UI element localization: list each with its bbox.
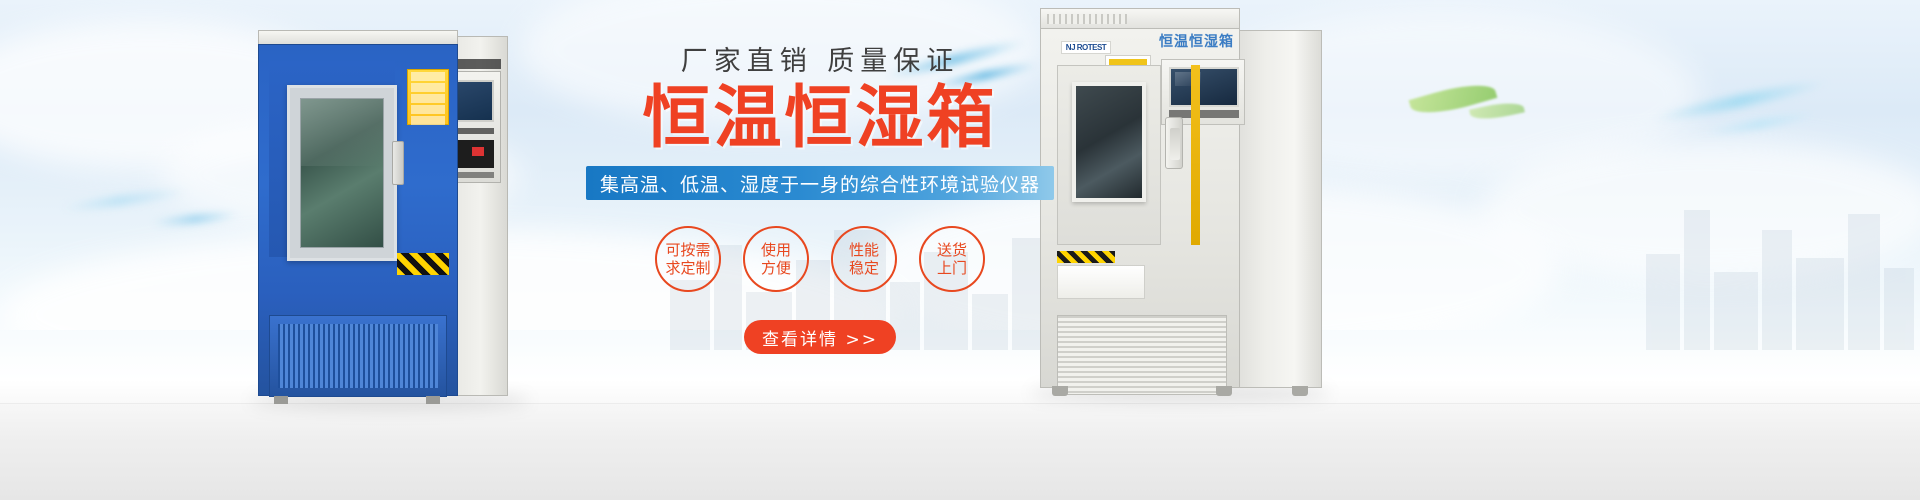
- feature-badge-easy-to-use[interactable]: 使用 方便: [743, 226, 809, 292]
- feature-badge-list: 可按需 求定制 使用 方便 性能 稳定 送货 上门: [560, 226, 1080, 292]
- feature-badge-line2: 上门: [937, 259, 967, 278]
- swoosh-decoration: [150, 210, 240, 227]
- feature-badge-customizable[interactable]: 可按需 求定制: [655, 226, 721, 292]
- chamber-left-vent-grill: [278, 324, 438, 388]
- chamber-right-top-cap: [1040, 8, 1240, 30]
- chamber-left-door-handle: [392, 141, 404, 185]
- chamber-left-door: [287, 85, 397, 261]
- chamber-left-warning-sticker: [407, 69, 449, 125]
- chamber-left-viewing-window: [300, 98, 384, 248]
- banner-subtitle-bar: 集高温、低温、湿度于一身的综合性环境试验仪器: [586, 166, 1054, 200]
- chamber-left-main-body: NJ ROTEST: [258, 44, 458, 396]
- chamber-right-control-panel: [1161, 59, 1245, 125]
- feature-badge-stable-performance[interactable]: 性能 稳定: [831, 226, 897, 292]
- chamber-left-hazard-stripe: [397, 253, 449, 275]
- cta-container: 查看详情 >>: [560, 320, 1080, 354]
- chamber-right-model-label: 恒温恒湿箱: [1159, 31, 1247, 53]
- feature-badge-line2: 稳定: [849, 259, 879, 278]
- promo-banner: NJ ROTEST NJ ROTEST 恒温恒湿箱: [0, 0, 1920, 500]
- feature-badge-line2: 方便: [761, 259, 791, 278]
- chamber-left-door-panel: [269, 61, 395, 257]
- chamber-left-leg: [426, 396, 440, 404]
- feature-badge-line1: 性能: [849, 241, 879, 260]
- banner-tagline: 厂家直销 质量保证: [560, 48, 1080, 75]
- swoosh-decoration: [1700, 110, 1820, 139]
- chamber-right-display-screen: [1169, 67, 1239, 107]
- feature-badge-line1: 使用: [761, 241, 791, 260]
- banner-text-column: 厂家直销 质量保证 恒温恒湿箱 集高温、低温、湿度于一身的综合性环境试验仪器 可…: [560, 48, 1080, 448]
- product-image-left-chamber: NJ ROTEST: [258, 30, 508, 402]
- chamber-left-leg: [274, 396, 288, 404]
- feature-badge-home-delivery[interactable]: 送货 上门: [919, 226, 985, 292]
- feature-badge-line1: 送货: [937, 241, 967, 260]
- chamber-right-yellow-strip: [1191, 65, 1200, 245]
- banner-headline: 恒温恒湿箱: [560, 83, 1080, 154]
- chamber-right-leg: [1216, 386, 1232, 396]
- feature-badge-line1: 可按需: [665, 241, 710, 260]
- view-details-button[interactable]: 查看详情 >>: [744, 320, 896, 354]
- chamber-right-door-handle: [1165, 117, 1183, 169]
- chamber-right-leg: [1292, 386, 1308, 396]
- chamber-right-viewing-window: [1072, 82, 1146, 202]
- city-skyline-decoration: [1640, 180, 1920, 350]
- swoosh-decoration: [60, 186, 190, 214]
- chamber-left-lower-vent-unit: [269, 315, 447, 397]
- chamber-right-vent-grill: [1057, 315, 1227, 395]
- banner-subtitle-text: 集高温、低温、湿度于一身的综合性环境试验仪器: [600, 170, 1040, 197]
- feature-badge-line2: 求定制: [665, 259, 710, 278]
